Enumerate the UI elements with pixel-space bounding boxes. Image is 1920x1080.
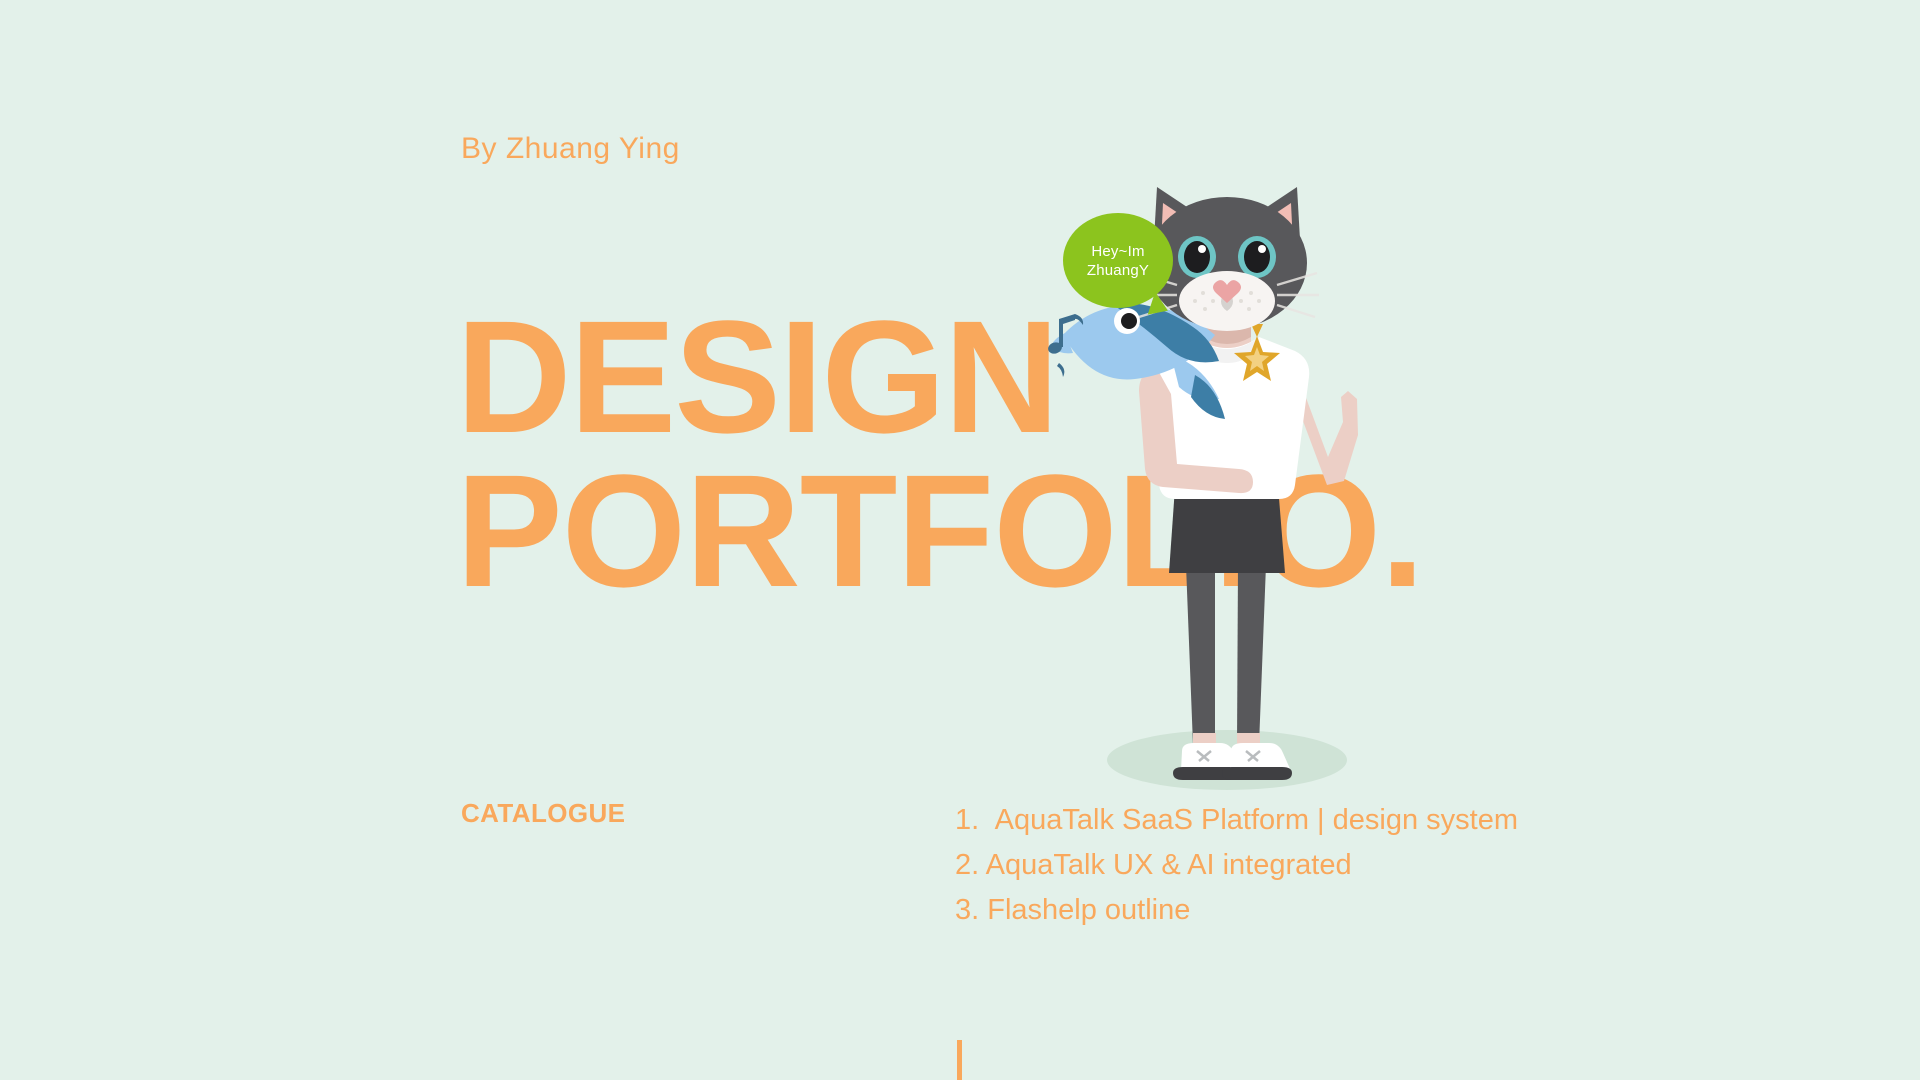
speech-bubble-line-2: ZhuangY: [1087, 261, 1149, 280]
slide-canvas: By Zhuang Ying DESIGN PORTFOLIO.: [0, 0, 1920, 1080]
right-leg-shape: [1237, 565, 1266, 745]
list-item[interactable]: 3. Flashelp outline: [955, 888, 1518, 933]
speech-bubble: Hey~Im ZhuangY: [1063, 213, 1173, 308]
speech-bubble-line-1: Hey~Im: [1091, 242, 1144, 261]
bottom-tick-mark: [957, 1040, 962, 1080]
left-leg-shape: [1186, 565, 1215, 745]
speech-bubble-text: Hey~Im ZhuangY: [1063, 213, 1173, 308]
catalogue-item-label: Flashelp outline: [987, 894, 1190, 926]
catalogue-item-number: 3.: [955, 888, 979, 933]
list-item[interactable]: 2. AquaTalk UX & AI integrated: [955, 843, 1518, 888]
catalogue-item-number: 1.: [955, 798, 988, 843]
byline: By Zhuang Ying: [461, 132, 680, 166]
catalogue-item-number: 2.: [955, 843, 979, 888]
catalogue-item-label: AquaTalk UX & AI integrated: [986, 849, 1352, 881]
catalogue-label: CATALOGUE: [461, 798, 625, 829]
